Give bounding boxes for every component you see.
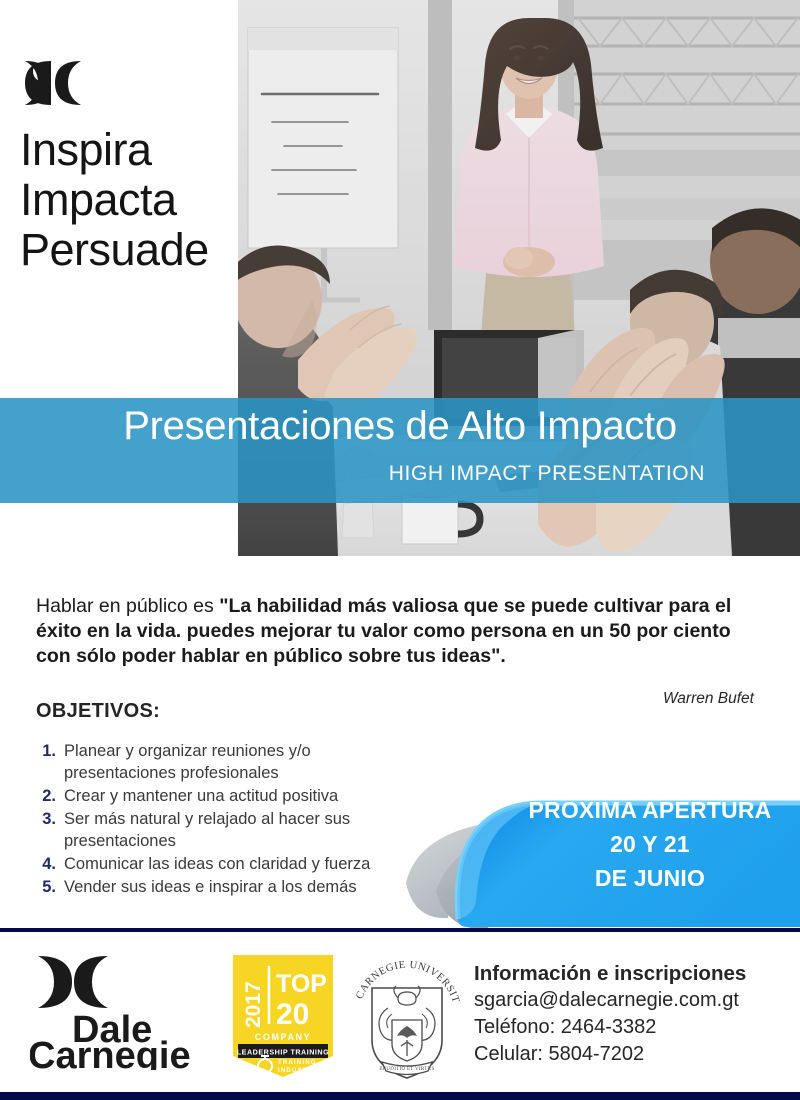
list-item-number: 1. (30, 740, 64, 762)
list-item-number: 4. (30, 853, 64, 875)
list-item-label: Vender sus ideas e inspirar a los demás (64, 876, 357, 898)
dale-carnegie-logo: Dale Carnegie (30, 950, 220, 1070)
list-item: 4. Comunicar las ideas con claridad y fu… (30, 853, 410, 875)
callout-line-3: DE JUNIO (510, 861, 790, 895)
badge-source-line2: INDUSTRY (278, 1068, 318, 1074)
list-item-number: 5. (30, 876, 64, 898)
course-title-banner: Presentaciones de Alto Impacto HIGH IMPA… (0, 398, 800, 503)
poster-root: Inspira Impacta Persuade Presentaciones … (0, 0, 800, 1100)
course-subtitle: HIGH IMPACT PRESENTATION (389, 462, 705, 486)
objectives-heading: OBJETIVOS: (36, 700, 160, 723)
contact-heading: Información e inscripciones (474, 960, 794, 987)
callout-line-2: 20 Y 21 (510, 827, 790, 861)
quote-lead: Hablar en público es (36, 595, 219, 617)
seal-motto: ERUDITIO ET VIRTUS (379, 1067, 434, 1072)
quote-block: Hablar en público es "La habilidad más v… (36, 594, 768, 669)
footer-divider-bottom (0, 1092, 800, 1100)
headline-line-3: Persuade (20, 225, 235, 275)
page-title: Inspira Impacta Persuade (20, 125, 235, 275)
headline-line-1: Inspira (20, 125, 235, 175)
list-item-number: 3. (30, 808, 64, 830)
list-item: 5. Vender sus ideas e inspirar a los dem… (30, 876, 410, 898)
badge-rank-word: TOP (276, 970, 327, 998)
objectives-list: 1. Planear y organizar reuniones y/o pre… (30, 740, 410, 899)
contact-phone[interactable]: Teléfono: 2464-3382 (474, 1014, 794, 1041)
list-item: 1. Planear y organizar reuniones y/o pre… (30, 740, 410, 784)
quote-author: Warren Bufet (663, 690, 754, 708)
badge-rank-number: 20 (276, 998, 309, 1031)
callout-line-1: PRÓXIMA APERTURA (510, 793, 790, 827)
list-item: 2. Crear y mantener una actitud positiva (30, 785, 410, 807)
badge-company: COMPANY (255, 1032, 312, 1042)
carnegie-university-seal: CARNEGIE UNIVERSITY ERUDITIO ET VIRTUS (348, 948, 466, 1080)
badge-year: 2017 (242, 981, 265, 1028)
dale-carnegie-butterfly-icon (22, 58, 84, 108)
contact-email[interactable]: sgarcia@dalecarnegie.com.gt (474, 987, 794, 1014)
contact-mobile[interactable]: Celular: 5804-7202 (474, 1041, 794, 1068)
badge-source-line1: TRAINING (278, 1060, 317, 1066)
badge-category: LEADERSHIP TRAINING (237, 1048, 329, 1057)
footer-divider-top (0, 928, 800, 932)
course-title: Presentaciones de Alto Impacto (0, 404, 800, 449)
opening-date-callout: PRÓXIMA APERTURA 20 Y 21 DE JUNIO (392, 775, 800, 930)
list-item-label: Ser más natural y relajado al hacer sus … (64, 808, 410, 852)
logo-word-carnegie: Carnegie (30, 1035, 191, 1070)
list-item: 3. Ser más natural y relajado al hacer s… (30, 808, 410, 852)
list-item-label: Planear y organizar reuniones y/o presen… (64, 740, 410, 784)
list-item-label: Crear y mantener una actitud positiva (64, 785, 338, 807)
dale-carnegie-butterfly-icon (38, 956, 108, 1008)
list-item-label: Comunicar las ideas con claridad y fuerz… (64, 853, 370, 875)
contact-block: Información e inscripciones sgarcia@dale… (474, 960, 794, 1068)
top20-award-badge: 2017 TOP 20 COMPANY LEADERSHIP TRAINING … (230, 952, 336, 1080)
headline-line-2: Impacta (20, 175, 235, 225)
callout-text: PRÓXIMA APERTURA 20 Y 21 DE JUNIO (510, 793, 790, 895)
list-item-number: 2. (30, 785, 64, 807)
